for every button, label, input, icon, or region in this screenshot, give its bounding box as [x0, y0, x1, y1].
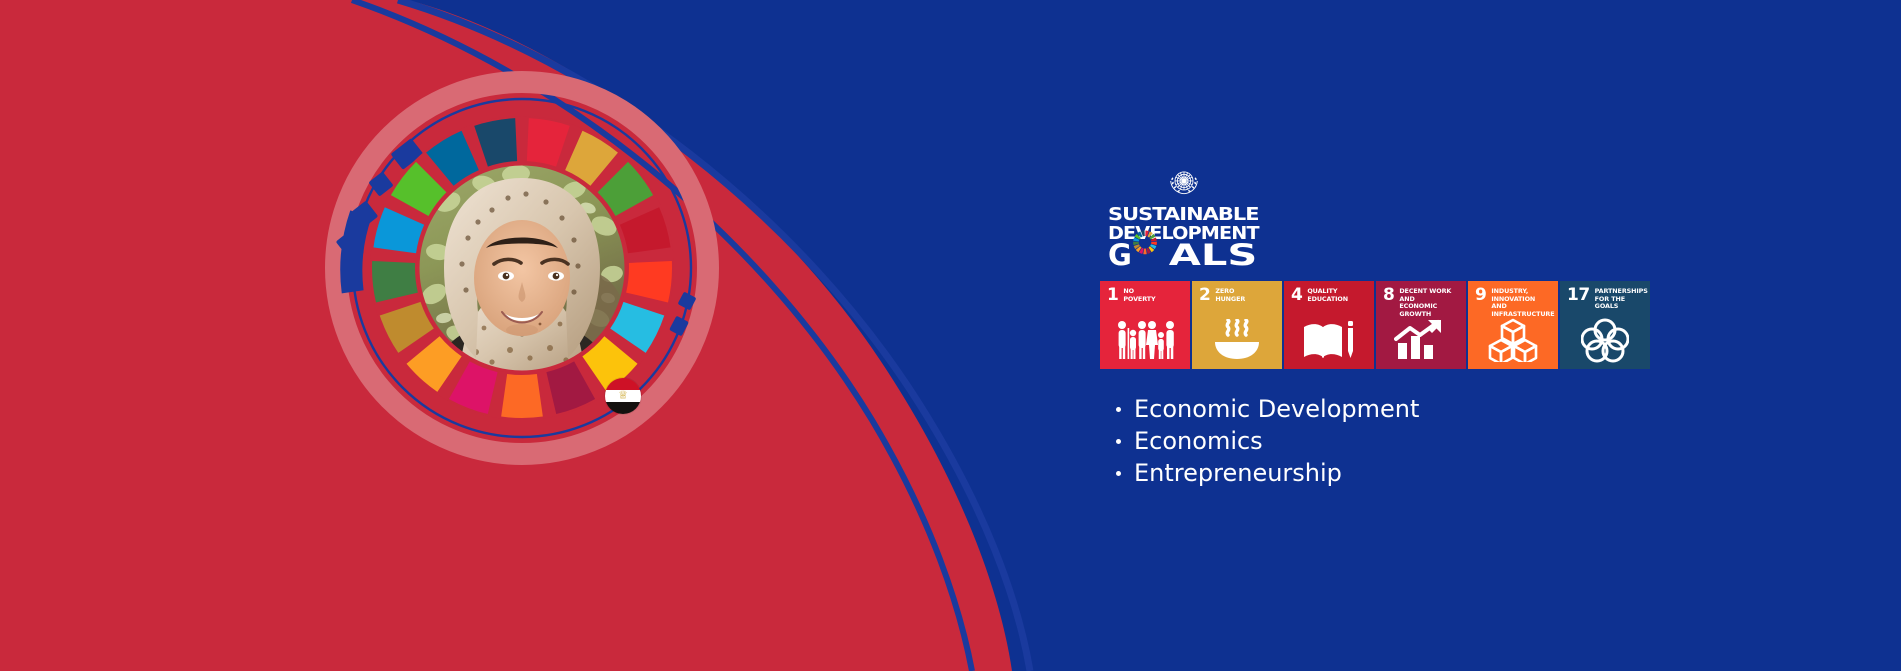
right-content-column: SUSTAINABLE DEVELOPMENT G ALS 1NO POVERT… — [1100, 165, 1660, 489]
topic-list-item[interactable]: Entrepreneurship — [1116, 457, 1660, 489]
eagle-of-saladin-icon: ♕ — [618, 391, 628, 402]
growth-chart-icon — [1376, 315, 1466, 365]
sdg-tile-number: 2 — [1199, 288, 1210, 302]
sdg-tile-4[interactable]: 4QUALITY EDUCATION — [1284, 281, 1374, 369]
sdg-tile-number: 8 — [1383, 288, 1394, 302]
sdg-tile-header: 9INDUSTRY, INNOVATION AND INFRASTRUCTURE — [1468, 281, 1558, 318]
sdg-tile-label: INDUSTRY, INNOVATION AND INFRASTRUCTURE — [1491, 288, 1554, 318]
un-emblem-icon — [1167, 165, 1201, 199]
sdg-tile-header: 1NO POVERTY — [1100, 281, 1190, 303]
topic-list-item[interactable]: Economics — [1116, 425, 1660, 457]
topic-list-item[interactable]: Economic Development — [1116, 393, 1660, 425]
sdg-tile-label: PARTNERSHIPS FOR THE GOALS — [1595, 288, 1648, 310]
sdg-tile-number: 17 — [1567, 288, 1590, 302]
sdg-tile-label: QUALITY EDUCATION — [1307, 288, 1348, 303]
sdg-tile-header: 2ZERO HUNGER — [1192, 281, 1282, 303]
cubes-icon — [1468, 315, 1558, 365]
book-pencil-icon — [1284, 315, 1374, 365]
sdg-tiles-row: 1NO POVERTY 2ZERO HUNGER 4QUALITY EDUCAT… — [1100, 281, 1652, 369]
topic-list: Economic DevelopmentEconomicsEntrepreneu… — [1100, 393, 1660, 489]
wordmark-line1: SUSTAINABLE — [1108, 204, 1259, 225]
sdg-tile-1[interactable]: 1NO POVERTY — [1100, 281, 1190, 369]
flag-stripe-white: ♕ — [605, 390, 641, 402]
sdg-wordmark: SUSTAINABLE DEVELOPMENT G ALS — [1108, 204, 1260, 267]
sdg-tile-number: 9 — [1475, 288, 1486, 302]
sdg-tile-number: 1 — [1107, 288, 1118, 302]
wordmark-goals-g: G — [1108, 238, 1132, 268]
soup-bowl-icon — [1192, 315, 1282, 365]
portrait-composite: ♕ — [316, 62, 728, 474]
sdg-tile-header: 8DECENT WORK AND ECONOMIC GROWTH — [1376, 281, 1466, 318]
family-icon — [1100, 315, 1190, 365]
sdg-tile-label: NO POVERTY — [1123, 288, 1155, 303]
sdg-emblem: SUSTAINABLE DEVELOPMENT G ALS — [1108, 165, 1260, 267]
sdg-tile-8[interactable]: 8DECENT WORK AND ECONOMIC GROWTH — [1376, 281, 1466, 369]
portrait-ring-svg — [316, 62, 728, 474]
sdg-tile-2[interactable]: 2ZERO HUNGER — [1192, 281, 1282, 369]
sdg-tile-9[interactable]: 9INDUSTRY, INNOVATION AND INFRASTRUCTURE — [1468, 281, 1558, 369]
sdg-tile-header: 17PARTNERSHIPS FOR THE GOALS — [1560, 281, 1650, 310]
sdg-tile-label: DECENT WORK AND ECONOMIC GROWTH — [1399, 288, 1461, 318]
sdg-tile-17[interactable]: 17PARTNERSHIPS FOR THE GOALS — [1560, 281, 1650, 369]
banner-canvas: ♕ — [0, 0, 1901, 671]
egypt-flag-badge: ♕ — [605, 378, 641, 414]
interlocking-circles-icon — [1560, 315, 1650, 365]
wordmark-goals-als: ALS — [1169, 238, 1258, 268]
sdg-tile-number: 4 — [1291, 288, 1302, 302]
sdg-wheel-segment — [501, 374, 543, 418]
sdg-tile-header: 4QUALITY EDUCATION — [1284, 281, 1374, 303]
sdg-wheel-segment-small — [1143, 249, 1146, 255]
sdg-tile-label: ZERO HUNGER — [1215, 288, 1245, 303]
